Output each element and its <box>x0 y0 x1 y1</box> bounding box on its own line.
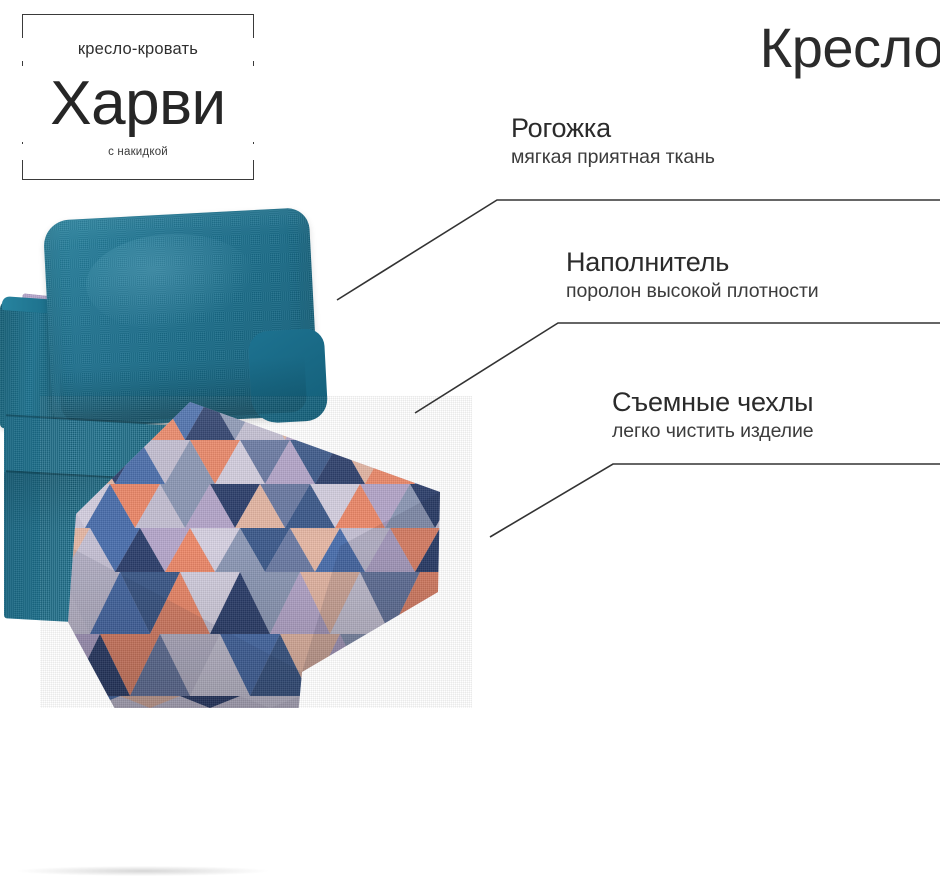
brand-name: Харви <box>2 66 274 142</box>
mattress-cover <box>40 396 472 708</box>
page-title: Кресло <box>760 16 940 80</box>
infographic-canvas: кресло-кровать Харви с накидкой Кресло <box>0 0 940 674</box>
product-image <box>0 210 470 674</box>
mattress-pattern-svg <box>40 396 472 708</box>
callout-subtitle: поролон высокой плотности <box>566 279 819 304</box>
callout-subtitle: легко чистить изделие <box>612 419 813 444</box>
callout-subtitle: мягкая приятная ткань <box>511 145 715 170</box>
brand-kicker: кресло-кровать <box>22 38 254 61</box>
leader-line-3 <box>490 464 940 537</box>
floor-shadow <box>18 866 268 876</box>
callout-title: Рогожка <box>511 112 715 145</box>
callout-title: Наполнитель <box>566 246 819 279</box>
brand-block: кресло-кровать Харви с накидкой <box>22 14 254 180</box>
brand-subtitle: с накидкой <box>22 144 254 160</box>
callout-fabric: Рогожка мягкая приятная ткань <box>511 112 715 170</box>
callout-title: Съемные чехлы <box>612 386 813 419</box>
callout-covers: Съемные чехлы легко чистить изделие <box>612 386 813 444</box>
callout-filler: Наполнитель поролон высокой плотности <box>566 246 819 304</box>
